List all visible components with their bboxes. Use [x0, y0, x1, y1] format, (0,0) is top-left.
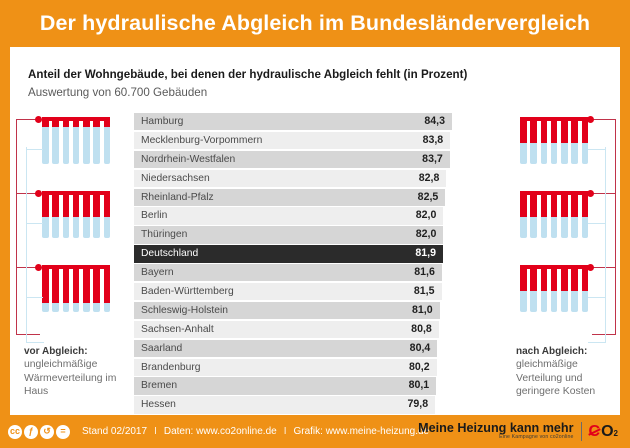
return-pipe [26, 149, 43, 150]
radiator-fin [561, 265, 568, 312]
caption-after-title: nach Abgleich: [516, 346, 587, 357]
radiator-fin [551, 191, 558, 238]
bar-category-label: Mecklenburg-Vorpommern [141, 132, 262, 149]
footer-bar: ccƒ↺= Stand 02/2017 I Daten: www.co2onli… [0, 415, 630, 448]
radiator-fin [63, 117, 70, 164]
table-row: Nordrhein-Westfalen83,7 [134, 151, 466, 168]
radiator-fin [530, 265, 537, 312]
radiator-fin [83, 117, 90, 164]
radiator-fin [582, 265, 589, 312]
bar-category-label: Sachsen-Anhalt [141, 321, 214, 338]
table-row: Bayern81,6 [134, 264, 466, 281]
radiator-fin [63, 191, 70, 238]
radiator-fin [582, 191, 589, 238]
bar-value-label: 81,9 [415, 245, 436, 262]
radiator-fins [42, 265, 110, 312]
bar-fill: Mecklenburg-Vorpommern83,8 [134, 132, 450, 149]
footer-separator-1: I [154, 426, 157, 437]
bar-value-label: 81,6 [414, 264, 435, 281]
table-row: Sachsen-Anhalt80,8 [134, 321, 466, 338]
radiator-top-manifold [520, 191, 588, 195]
radiator-top-manifold [42, 191, 110, 195]
bar-category-label: Niedersachsen [141, 170, 210, 187]
radiator-group-after [506, 113, 618, 335]
radiator-fins [520, 191, 588, 238]
radiator-fin [571, 191, 578, 238]
table-row: Schleswig-Holstein81,0 [134, 302, 466, 319]
return-pipe-riser [26, 147, 27, 343]
cc-cc-icon[interactable]: cc [8, 425, 22, 439]
subtitle-main: Anteil der Wohngebäude, bei denen der hy… [28, 67, 498, 83]
table-row: Brandenburg80,2 [134, 359, 466, 376]
bar-category-label: Rheinland-Pfalz [141, 189, 214, 206]
radiator-hot-zone [42, 265, 49, 303]
supply-pipe-riser [16, 119, 17, 335]
table-row: Rheinland-Pfalz82,5 [134, 189, 466, 206]
bar-value-label: 82,0 [416, 207, 437, 224]
radiator-fin [83, 265, 90, 312]
supply-pipe [592, 267, 616, 268]
cc-by-icon[interactable]: ƒ [24, 425, 38, 439]
bar-fill: Thüringen82,0 [134, 226, 443, 243]
radiator-fin [73, 265, 80, 312]
bar-category-label: Deutschland [141, 245, 198, 262]
radiator-fin [571, 117, 578, 164]
logo-c-crossed-icon: C [589, 423, 602, 441]
radiator-valve-icon [587, 264, 594, 271]
radiator-fin [561, 191, 568, 238]
radiator-group-before [14, 113, 126, 335]
radiator-fin [551, 117, 558, 164]
footer-grafik-link[interactable]: Grafik: www.meine-heizung.de [293, 426, 429, 437]
radiator-fin [551, 265, 558, 312]
footer-daten-link[interactable]: Daten: www.co2online.de [164, 426, 277, 437]
bar-chart: Hamburg84,3Mecklenburg-Vorpommern83,8Nor… [134, 113, 466, 434]
radiator-panel-after [506, 113, 618, 335]
bar-value-label: 80,8 [411, 321, 432, 338]
bar-value-label: 82,0 [416, 226, 437, 243]
radiator-valve-icon [35, 116, 42, 123]
footer-stand: Stand 02/2017 [82, 426, 147, 437]
bar-fill: Brandenburg80,2 [134, 359, 437, 376]
radiator-hot-zone [93, 265, 100, 303]
bar-category-label: Brandenburg [141, 359, 201, 376]
bar-fill: Hamburg84,3 [134, 113, 452, 130]
bar-category-label: Bayern [141, 264, 174, 281]
return-pipe [26, 223, 43, 224]
bar-fill: Deutschland81,9 [134, 245, 443, 262]
table-row: Mecklenburg-Vorpommern83,8 [134, 132, 466, 149]
bar-fill: Saarland80,4 [134, 340, 437, 357]
supply-pipe-riser [615, 119, 616, 335]
supply-pipe [592, 193, 616, 194]
radiator-fins [42, 191, 110, 238]
bar-value-label: 81,5 [414, 283, 435, 300]
radiator-valve-icon [35, 264, 42, 271]
table-row: Niedersachsen82,8 [134, 170, 466, 187]
return-pipe [588, 149, 606, 150]
return-pipe-riser [605, 147, 606, 343]
logo-o: O [601, 423, 613, 441]
bar-value-label: 80,1 [409, 377, 430, 394]
radiator-fin [83, 191, 90, 238]
radiator-fin [93, 191, 100, 238]
bar-fill: Nordrhein-Westfalen83,7 [134, 151, 450, 168]
footer-separator-2: I [284, 426, 287, 437]
subtitle-sub: Auswertung von 60.700 Gebäuden [28, 85, 498, 101]
radiator-fins [520, 265, 588, 312]
bar-category-label: Nordrhein-Westfalen [141, 151, 235, 168]
bar-fill: Schleswig-Holstein81,0 [134, 302, 440, 319]
radiator-fin [530, 191, 537, 238]
bar-category-label: Baden-Württemberg [141, 283, 234, 300]
radiator-valve-icon [587, 116, 594, 123]
radiator-fin [52, 191, 59, 238]
bar-value-label: 82,8 [419, 170, 440, 187]
brand-lockup: Meine Heizung kann mehr Eine Kampagne vo… [418, 422, 618, 441]
bar-category-label: Bremen [141, 377, 177, 394]
bar-category-label: Hamburg [141, 113, 183, 130]
radiator-fin [520, 191, 527, 238]
brand-campaign-note: Eine Kampagne von co2online [418, 435, 573, 440]
radiator-fin [541, 117, 548, 164]
bar-category-label: Saarland [141, 340, 182, 357]
bar-fill: Bayern81,6 [134, 264, 442, 281]
radiator-fin [104, 191, 111, 238]
caption-after-body: gleichmäßige Verteilung und geringere Ko… [516, 359, 595, 397]
radiator-fin [541, 265, 548, 312]
radiator-icon [42, 117, 110, 164]
poster-frame: Der hydraulische Abgleich im Bundeslände… [0, 0, 630, 448]
radiator-fin [63, 265, 70, 312]
table-row: Hessen79,8 [134, 396, 466, 413]
return-pipe [588, 297, 606, 298]
caption-after: nach Abgleich: gleichmäßige Verteilung u… [516, 345, 620, 399]
radiator-fins [42, 117, 110, 164]
radiator-panel-before [14, 113, 126, 335]
bar-value-label: 81,0 [412, 302, 433, 319]
radiator-fin [42, 191, 49, 238]
bar-value-label: 79,8 [407, 396, 428, 413]
bar-category-label: Hessen [141, 396, 176, 413]
bar-value-label: 80,2 [409, 359, 430, 376]
footer-credits: Stand 02/2017 I Daten: www.co2online.de … [82, 426, 429, 437]
return-pipe [26, 297, 43, 298]
radiator-hot-zone [52, 265, 59, 303]
co2online-logo: C O 2 [589, 423, 618, 441]
table-row: Saarland80,4 [134, 340, 466, 357]
supply-pipe-base [16, 334, 40, 335]
radiator-fin [104, 265, 111, 312]
radiator-top-manifold [42, 117, 110, 121]
radiator-fin [93, 117, 100, 164]
table-row: Thüringen82,0 [134, 226, 466, 243]
bar-value-label: 84,3 [424, 113, 445, 130]
table-row: Bremen80,1 [134, 377, 466, 394]
radiator-fin [571, 265, 578, 312]
radiator-valve-icon [35, 190, 42, 197]
logo-subscript-2: 2 [614, 429, 618, 438]
return-pipe [588, 223, 606, 224]
radiator-fins [520, 117, 588, 164]
radiator-hot-zone [63, 265, 70, 303]
bar-fill: Bremen80,1 [134, 377, 436, 394]
bar-fill: Niedersachsen82,8 [134, 170, 446, 187]
radiator-fin [73, 117, 80, 164]
subtitle-block: Anteil der Wohngebäude, bei denen der hy… [28, 67, 498, 101]
radiator-fin [561, 117, 568, 164]
creative-commons-icons: ccƒ↺= [8, 425, 70, 439]
radiator-fin [73, 191, 80, 238]
radiator-fin [530, 117, 537, 164]
table-row: Berlin82,0 [134, 207, 466, 224]
caption-before-title: vor Abgleich: [24, 346, 88, 357]
bar-fill: Rheinland-Pfalz82,5 [134, 189, 445, 206]
radiator-valve-icon [587, 190, 594, 197]
cc-nd-icon[interactable]: = [56, 425, 70, 439]
radiator-hot-zone [83, 265, 90, 303]
bar-category-label: Schleswig-Holstein [141, 302, 228, 319]
radiator-top-manifold [42, 265, 110, 269]
radiator-fin [93, 265, 100, 312]
bar-fill: Berlin82,0 [134, 207, 443, 224]
bar-value-label: 83,7 [422, 151, 443, 168]
radiator-fin [104, 117, 111, 164]
bar-fill: Baden-Württemberg81,5 [134, 283, 442, 300]
table-row: Hamburg84,3 [134, 113, 466, 130]
caption-before-body: ungleichmäßige Wärmeverteilung im Haus [24, 359, 116, 397]
table-row: Deutschland81,9 [134, 245, 466, 262]
table-row: Baden-Württemberg81,5 [134, 283, 466, 300]
radiator-fin [42, 117, 49, 164]
brand-words: Meine Heizung kann mehr Eine Kampagne vo… [418, 422, 573, 441]
bar-fill: Hessen79,8 [134, 396, 435, 413]
bar-value-label: 80,4 [410, 340, 431, 357]
radiator-top-manifold [520, 265, 588, 269]
radiator-fin [52, 117, 59, 164]
radiator-fin [52, 265, 59, 312]
radiator-icon [520, 265, 588, 312]
supply-pipe-base [592, 334, 616, 335]
brand-divider [581, 422, 582, 441]
radiator-icon [520, 117, 588, 164]
radiator-fin [541, 191, 548, 238]
radiator-top-manifold [520, 117, 588, 121]
supply-pipe [592, 119, 616, 120]
radiator-icon [520, 191, 588, 238]
radiator-icon [42, 265, 110, 312]
bar-value-label: 82,5 [418, 189, 439, 206]
radiator-icon [42, 191, 110, 238]
bar-value-label: 83,8 [423, 132, 444, 149]
radiator-hot-zone [73, 265, 80, 303]
radiator-fin [582, 117, 589, 164]
header-bar: Der hydraulische Abgleich im Bundeslände… [0, 0, 630, 47]
bar-fill: Sachsen-Anhalt80,8 [134, 321, 439, 338]
radiator-hot-zone [104, 265, 111, 303]
radiator-fin [520, 117, 527, 164]
radiator-fin [520, 265, 527, 312]
bar-category-label: Berlin [141, 207, 167, 224]
caption-before: vor Abgleich: ungleichmäßige Wärmevertei… [24, 345, 128, 399]
page-title: Der hydraulische Abgleich im Bundeslände… [40, 11, 590, 36]
cc-sa-icon[interactable]: ↺ [40, 425, 54, 439]
bar-category-label: Thüringen [141, 226, 187, 243]
radiator-fin [42, 265, 49, 312]
